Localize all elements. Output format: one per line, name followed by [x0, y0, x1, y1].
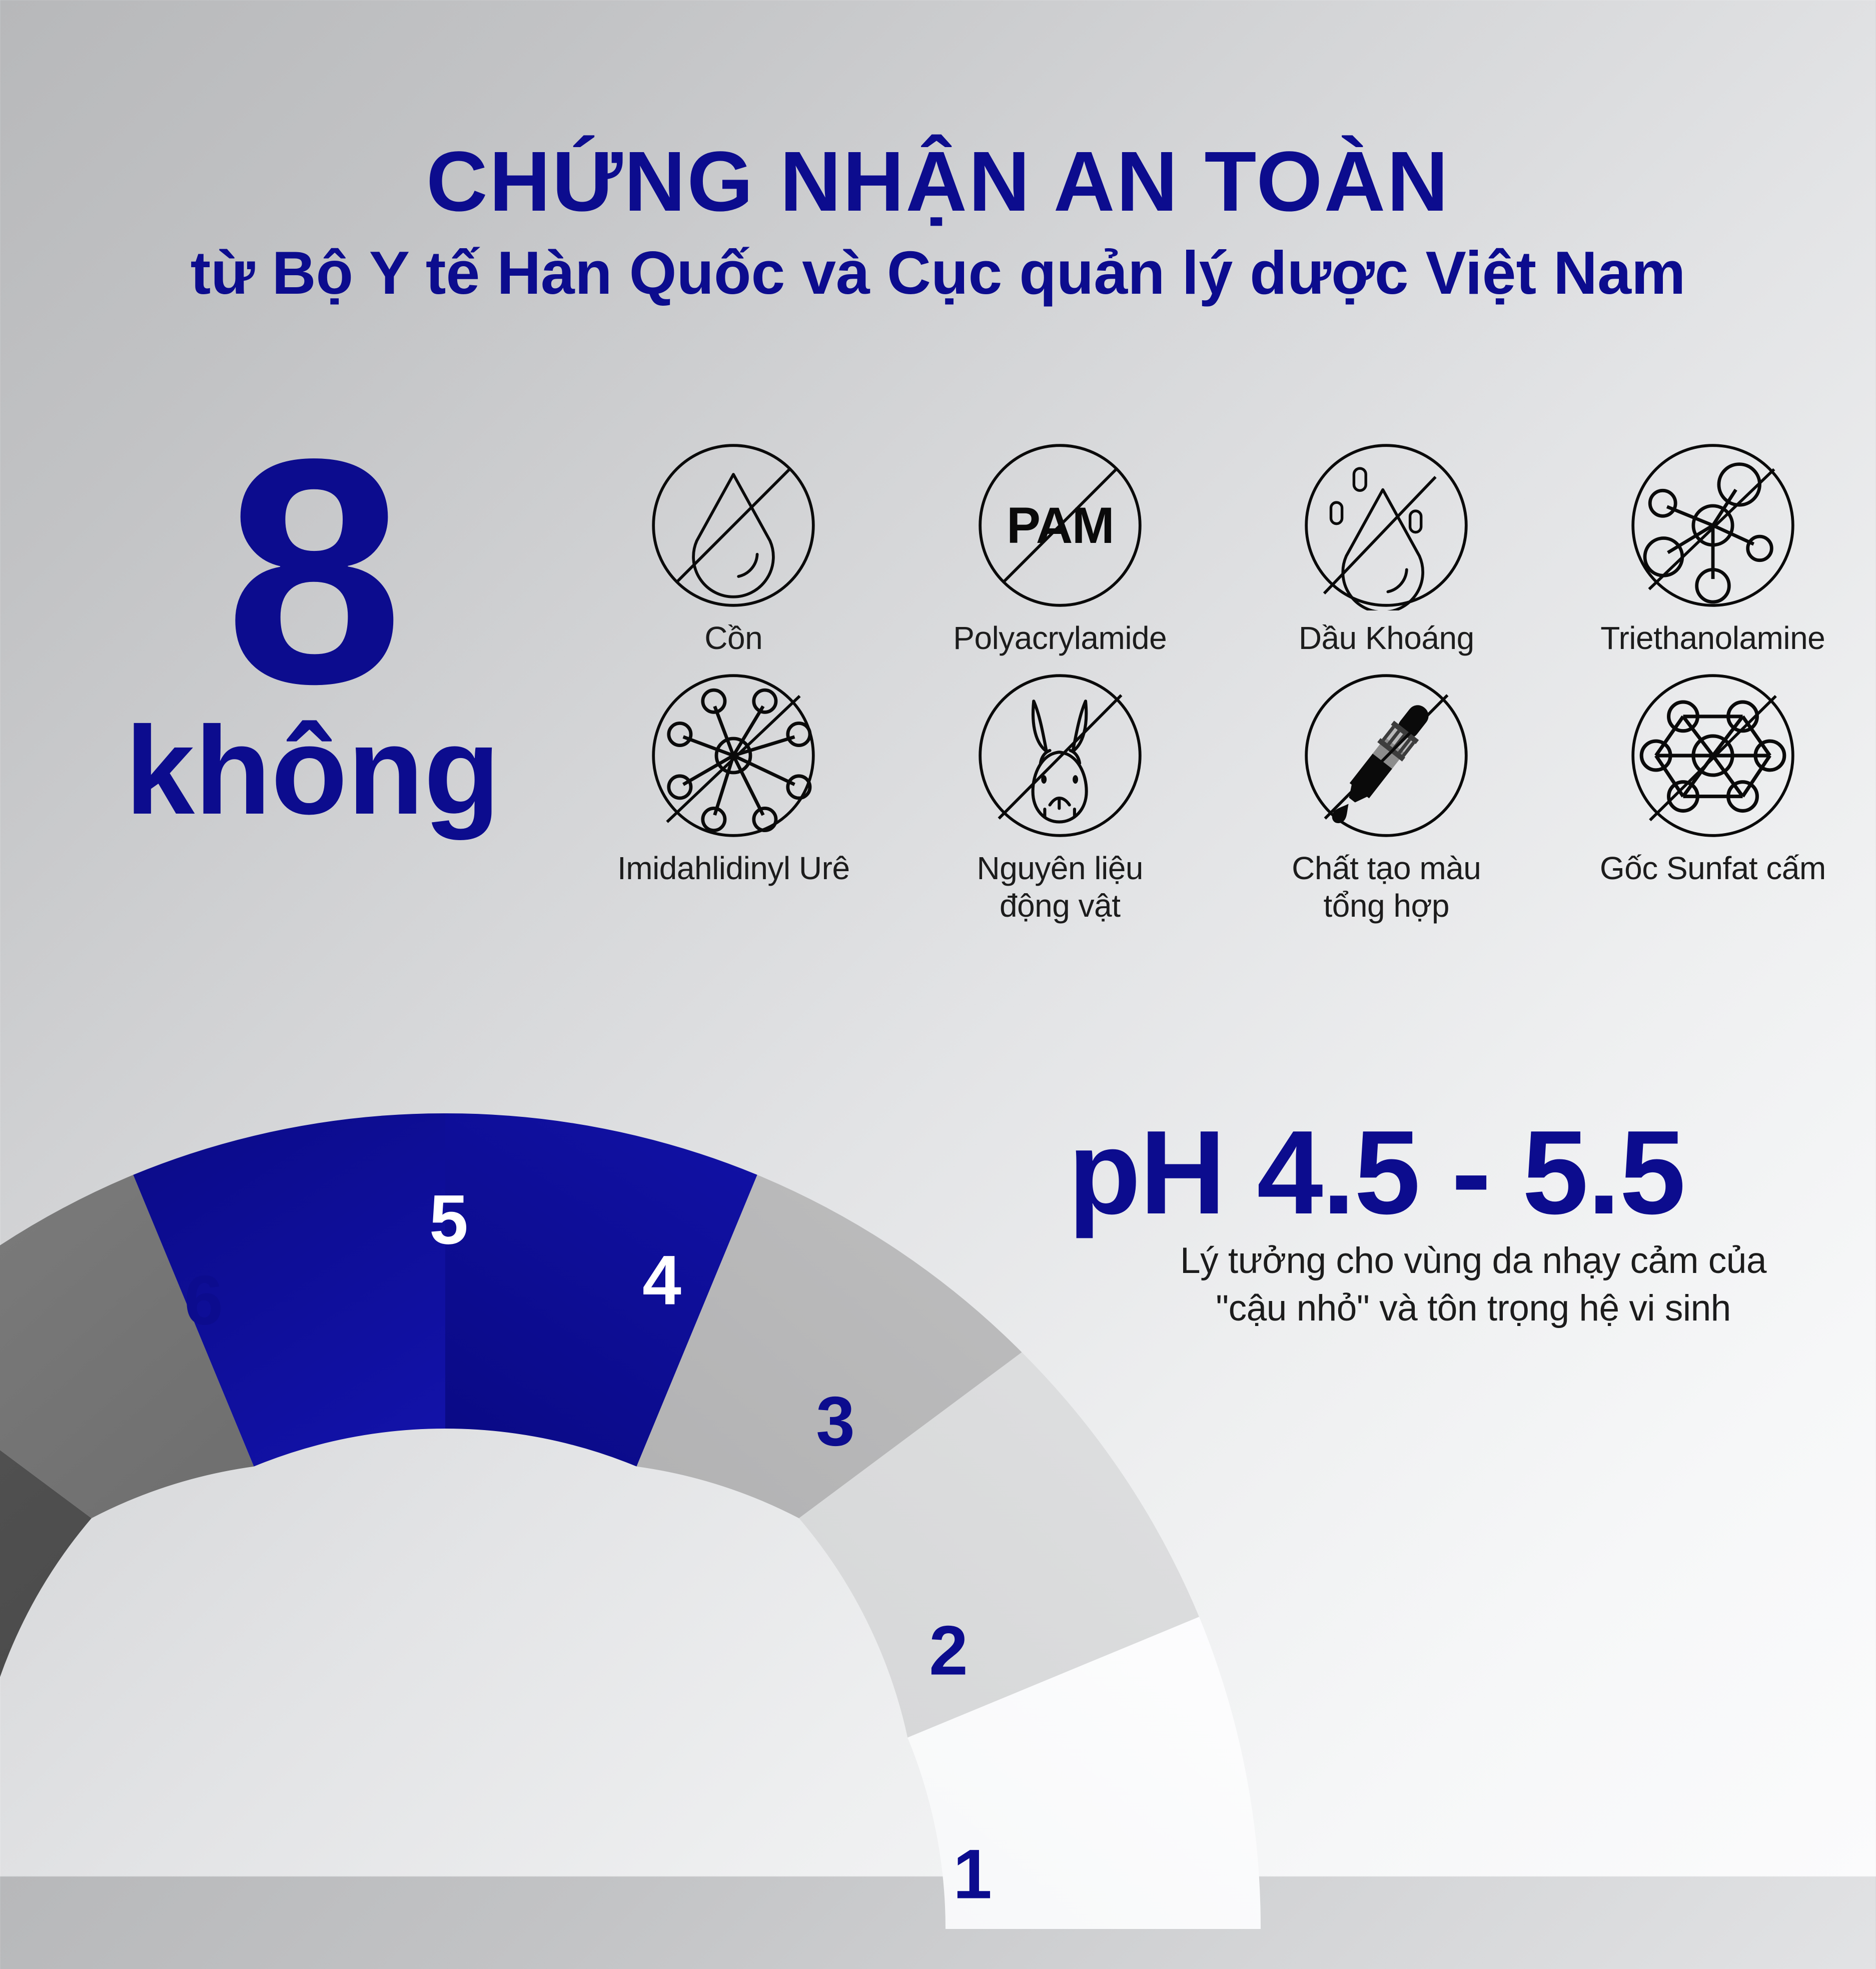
dial-number-5: 5: [429, 1180, 468, 1259]
page-subtitle: từ Bộ Y tế Hàn Quốc và Cục quản lý dược …: [0, 239, 1876, 306]
free-from-item-animal-derived: Nguyên liệuđộng vật: [897, 671, 1224, 925]
free-from-item-synthetic-dye: Chất tạo màutổng hợp: [1223, 671, 1550, 925]
no-molecule-radial-5-icon: [1628, 440, 1798, 610]
dial-number-1: 1: [953, 1835, 992, 1913]
free-from-count-block: 8 không: [60, 440, 565, 833]
ph-range-block: pH 4.5 - 5.5 Lý tưởng cho vùng da nhạy c…: [1068, 1113, 1858, 1333]
free-from-item-imidazolidinyl-urea: Imidahlidinyl Urê: [570, 671, 897, 925]
free-from-item-sulfate: Gốc Sunfat cấm: [1550, 671, 1876, 925]
free-from-item-label: Chất tạo màutổng hợp: [1292, 850, 1481, 925]
free-from-item-label: Nguyên liệuđộng vật: [977, 850, 1144, 925]
no-rabbit-icon: [975, 671, 1145, 841]
dial-number-3: 3: [816, 1382, 855, 1461]
free-from-item-alcohol: Cồn: [570, 440, 897, 658]
free-from-item-label: Gốc Sunfat cấm: [1600, 850, 1826, 888]
free-from-item-label: Imidahlidinyl Urê: [617, 850, 850, 888]
dial-number-4: 4: [642, 1241, 681, 1320]
free-from-item-label: Triethanolamine: [1600, 619, 1825, 658]
free-from-item-label: Dầu Khoáng: [1299, 619, 1474, 658]
free-from-item-label: Cồn: [704, 619, 762, 658]
ph-scale-dial: 7 6 5 4 3 2 1: [0, 1066, 966, 1966]
no-molecule-hexagon-icon: [1628, 671, 1798, 841]
dial-number-2: 2: [929, 1611, 968, 1690]
free-from-icon-grid: Cồn PAM Polyacrylamide Dầu Khoáng: [570, 440, 1876, 925]
ph-range-value: pH 4.5 - 5.5: [1068, 1113, 1858, 1232]
header: CHỨNG NHẬN AN TOÀN từ Bộ Y tế Hàn Quốc v…: [0, 0, 1876, 306]
no-molecule-radial-8-icon: [648, 671, 818, 841]
ph-range-description: Lý tưởng cho vùng da nhạy cảm của"cậu nh…: [1068, 1237, 1858, 1333]
page-title: CHỨNG NHẬN AN TOÀN: [0, 139, 1876, 224]
free-from-count: 8: [60, 440, 565, 703]
no-mineral-oil-droplet-icon: [1301, 440, 1471, 610]
free-from-item-mineral-oil: Dầu Khoáng: [1223, 440, 1550, 658]
free-from-item-polyacrylamide: PAM Polyacrylamide: [897, 440, 1224, 658]
free-from-word: không: [60, 708, 565, 833]
no-dropper-icon: [1301, 671, 1471, 841]
dial-number-6: 6: [184, 1261, 223, 1340]
free-from-item-label: Polyacrylamide: [953, 619, 1167, 658]
no-droplet-icon: [648, 440, 818, 610]
free-from-item-triethanolamine: Triethanolamine: [1550, 440, 1876, 658]
no-pam-icon: PAM: [975, 440, 1145, 610]
